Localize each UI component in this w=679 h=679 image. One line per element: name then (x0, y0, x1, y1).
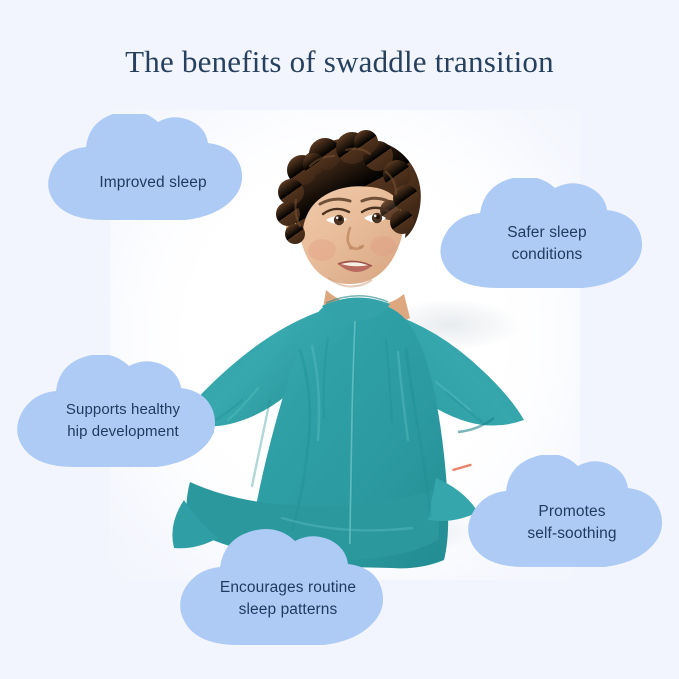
benefit-cloud-label: Improved sleep (44, 172, 262, 194)
swaddle-benefits-infographic: The benefits of swaddle transition (0, 0, 679, 679)
benefit-cloud-label: Promotes self-soothing (466, 501, 678, 546)
benefit-cloud-label: Encourages routine sleep patterns (176, 577, 400, 622)
benefit-cloud-safer-sleep[interactable]: Safer sleep conditions (436, 178, 658, 294)
benefit-cloud-improved-sleep[interactable]: Improved sleep (44, 114, 262, 226)
benefit-cloud-label: Safer sleep conditions (436, 222, 658, 267)
benefit-cloud-label: Supports healthy hip development (14, 399, 232, 443)
benefit-cloud-hip-development[interactable]: Supports healthy hip development (14, 355, 232, 473)
page-title: The benefits of swaddle transition (0, 44, 679, 80)
benefit-cloud-self-soothing[interactable]: Promotes self-soothing (466, 455, 678, 573)
benefit-cloud-sleep-patterns[interactable]: Encourages routine sleep patterns (176, 529, 400, 651)
